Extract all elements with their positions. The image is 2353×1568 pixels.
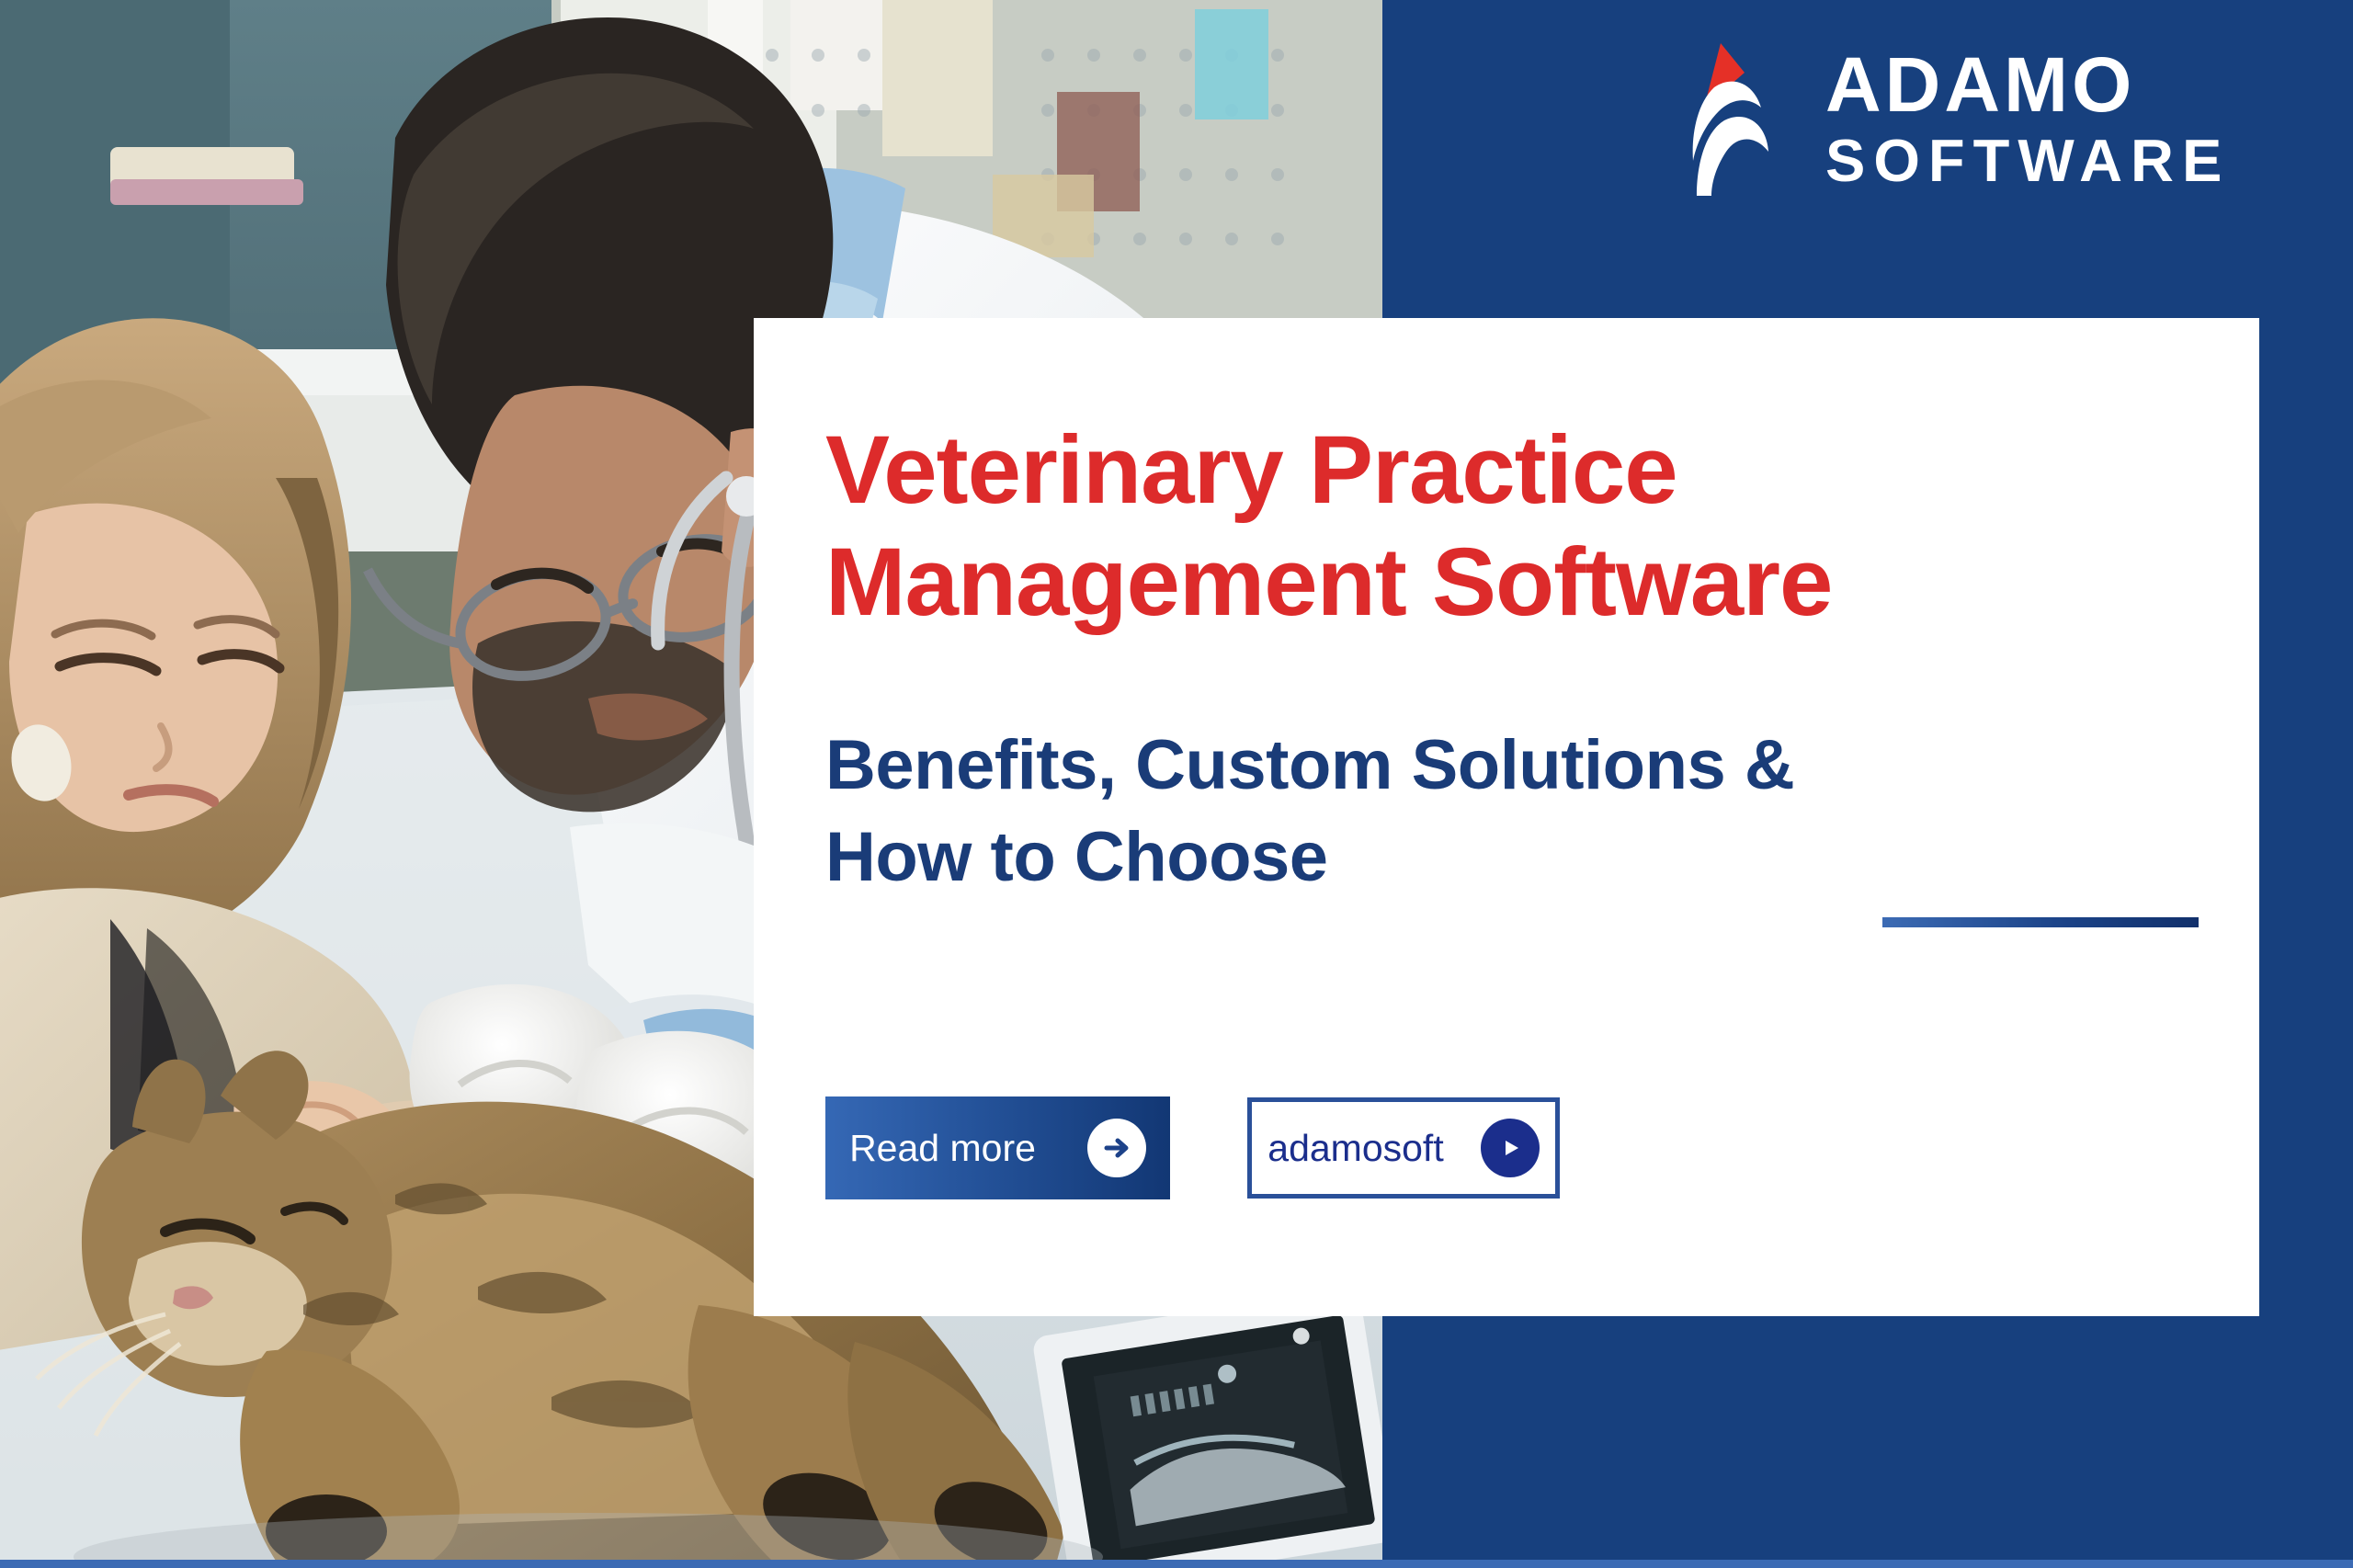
adamosoft-button[interactable]: adamosoft xyxy=(1247,1097,1560,1199)
play-circle-icon xyxy=(1481,1119,1540,1177)
arrow-right-circle-icon xyxy=(1087,1119,1146,1177)
logo-word-software: SOFTWARE xyxy=(1825,131,2230,190)
read-more-label: Read more xyxy=(849,1127,1036,1170)
cta-button-group: Read more adamosoft xyxy=(825,1096,1560,1199)
logo-word-adamo: ADAMO xyxy=(1825,46,2230,123)
page-title: Veterinary Practice Management Software xyxy=(825,415,2177,639)
content-card: Veterinary Practice Management Software … xyxy=(754,318,2259,1316)
accent-divider xyxy=(1882,917,2199,927)
adamo-bird-icon xyxy=(1677,40,1798,196)
marketing-banner: ADAMO SOFTWARE Veterinary Practice Manag… xyxy=(0,0,2353,1568)
footer-accent-strip xyxy=(0,1560,2353,1568)
read-more-button[interactable]: Read more xyxy=(825,1096,1170,1199)
adamo-software-logo: ADAMO SOFTWARE xyxy=(1677,35,2265,200)
page-subtitle: Benefits, Custom Solutions & How to Choo… xyxy=(825,720,1818,904)
adamosoft-label: adamosoft xyxy=(1267,1127,1443,1170)
